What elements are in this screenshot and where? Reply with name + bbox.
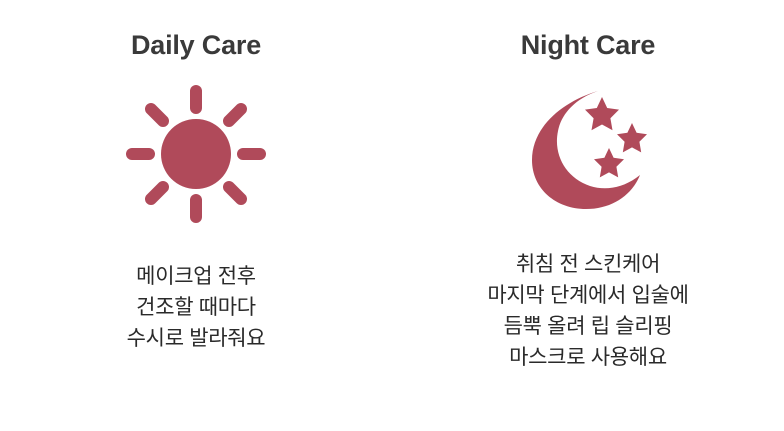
night-care-description: 취침 전 스킨케어 마지막 단계에서 입술에 듬뿍 올려 립 슬리핑 마스크로 … [487,249,688,373]
sun-icon [126,87,266,221]
night-care-line: 듬뿍 올려 립 슬리핑 [487,311,688,342]
daily-care-description: 메이크업 전후 건조할 때마다 수시로 발라줘요 [127,261,266,354]
crescent-moon-stars-icon [520,87,656,211]
care-instructions-board: Daily Care [0,0,784,431]
daily-care-line: 건조할 때마다 [127,292,266,323]
daily-care-title: Daily Care [131,30,261,61]
night-care-title: Night Care [521,30,656,61]
daily-care-line: 수시로 발라줘요 [127,323,266,354]
night-care-line: 마스크로 사용해요 [487,342,688,373]
night-care-column: Night Care 취침 전 스킨케어 마지막 단계에서 입술에 듬뿍 올려 … [392,0,784,373]
daily-care-column: Daily Care [0,0,392,354]
night-care-line: 취침 전 스킨케어 [487,249,688,280]
daily-care-line: 메이크업 전후 [127,261,266,292]
night-care-line: 마지막 단계에서 입술에 [487,280,688,311]
